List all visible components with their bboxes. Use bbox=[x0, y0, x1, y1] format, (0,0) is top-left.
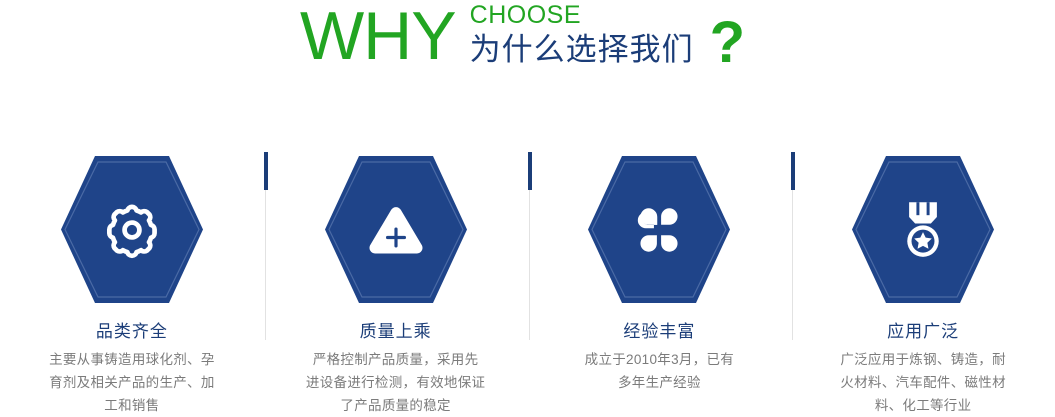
feature-body-line: 广泛应用于炼钢、铸造，耐 bbox=[811, 348, 1035, 371]
feature-title-1: 品类齐全 bbox=[0, 321, 264, 343]
feature-body-1: 主要从事铸造用球化剂、孕 育剂及相关产品的生产、加 工和销售 bbox=[0, 348, 264, 417]
feature-column-1: 品类齐全 主要从事铸造用球化剂、孕 育剂及相关产品的生产、加 工和销售 bbox=[0, 96, 264, 416]
headline-stack: CHOOSE 为什么选择我们 bbox=[470, 2, 694, 69]
headline-why: WHY bbox=[300, 2, 456, 70]
feature-column-3: 经验丰富 成立于2010年3月，已有 多年生产经验 bbox=[528, 96, 792, 416]
column-divider-line bbox=[265, 190, 266, 340]
column-divider-accent bbox=[264, 152, 268, 190]
feature-title-4: 应用广泛 bbox=[791, 321, 1055, 343]
column-divider-line bbox=[792, 190, 793, 340]
feature-body-line: 主要从事铸造用球化剂、孕 bbox=[28, 348, 236, 371]
feature-body-line: 进设备进行检测，有效地保证 bbox=[284, 371, 508, 394]
feature-body-line: 火材料、汽车配件、磁性材 bbox=[811, 371, 1035, 394]
column-divider-line bbox=[529, 190, 530, 340]
feature-body-line: 了产品质量的稳定 bbox=[284, 394, 508, 417]
clover-icon bbox=[585, 152, 733, 307]
section-header: WHY CHOOSE 为什么选择我们 ? bbox=[0, 0, 1055, 96]
feature-body-2: 严格控制产品质量，采用先 进设备进行检测，有效地保证 了产品质量的稳定 bbox=[264, 348, 528, 417]
feature-caption-2: 质量上乘 严格控制产品质量，采用先 进设备进行检测，有效地保证 了产品质量的稳定 bbox=[264, 321, 528, 417]
feature-body-line: 工和销售 bbox=[28, 394, 236, 417]
feature-column-2: 质量上乘 严格控制产品质量，采用先 进设备进行检测，有效地保证 了产品质量的稳定 bbox=[264, 96, 528, 416]
headline-chinese: 为什么选择我们 bbox=[470, 31, 694, 69]
feature-body-line: 严格控制产品质量，采用先 bbox=[284, 348, 508, 371]
feature-caption-4: 应用广泛 广泛应用于炼钢、铸造，耐 火材料、汽车配件、磁性材 料、化工等行业 bbox=[791, 321, 1055, 417]
column-divider-accent bbox=[791, 152, 795, 190]
feature-columns: 品类齐全 主要从事铸造用球化剂、孕 育剂及相关产品的生产、加 工和销售 bbox=[0, 96, 1055, 416]
feature-body-line: 料、化工等行业 bbox=[811, 394, 1035, 417]
feature-title-3: 经验丰富 bbox=[528, 321, 792, 343]
hexagon-badge-4 bbox=[849, 152, 997, 307]
hexagon-badge-1 bbox=[58, 152, 206, 307]
hexagon-badge-3 bbox=[585, 152, 733, 307]
feature-body-line: 成立于2010年3月，已有 bbox=[562, 348, 758, 371]
header-title-group: WHY CHOOSE 为什么选择我们 ? bbox=[300, 0, 745, 90]
feature-body-3: 成立于2010年3月，已有 多年生产经验 bbox=[528, 348, 792, 394]
feature-body-4: 广泛应用于炼钢、铸造，耐 火材料、汽车配件、磁性材 料、化工等行业 bbox=[791, 348, 1055, 417]
headline-choose: CHOOSE bbox=[470, 2, 694, 29]
column-divider-accent bbox=[528, 152, 532, 190]
feature-column-4: 应用广泛 广泛应用于炼钢、铸造，耐 火材料、汽车配件、磁性材 料、化工等行业 bbox=[791, 96, 1055, 416]
medal-icon bbox=[849, 152, 997, 307]
gear-icon bbox=[58, 152, 206, 307]
hexagon-badge-2 bbox=[322, 152, 470, 307]
feature-title-2: 质量上乘 bbox=[264, 321, 528, 343]
feature-caption-3: 经验丰富 成立于2010年3月，已有 多年生产经验 bbox=[528, 321, 792, 394]
triangle-plus-icon bbox=[322, 152, 470, 307]
feature-body-line: 多年生产经验 bbox=[562, 371, 758, 394]
feature-caption-1: 品类齐全 主要从事铸造用球化剂、孕 育剂及相关产品的生产、加 工和销售 bbox=[0, 321, 264, 417]
question-mark: ? bbox=[710, 14, 745, 72]
feature-body-line: 育剂及相关产品的生产、加 bbox=[28, 371, 236, 394]
